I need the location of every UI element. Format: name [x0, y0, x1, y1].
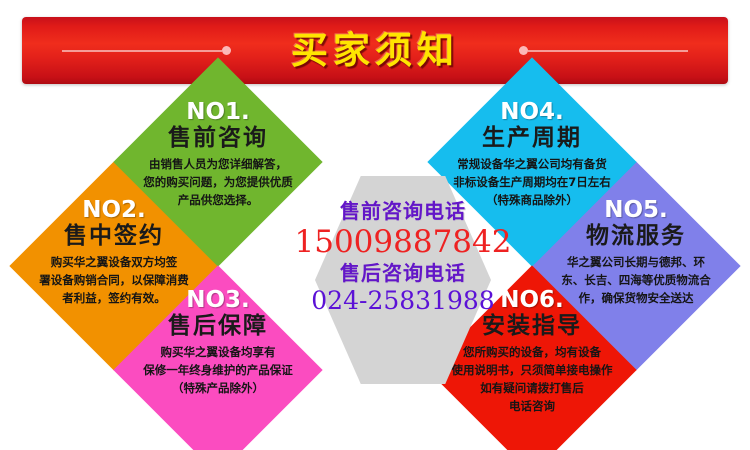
buyer-notice-infographic: 买家须知 售前咨询电话 15009887842 售后咨询电话 024-25831… — [0, 0, 750, 450]
page-title: 买家须知 — [22, 17, 728, 84]
presale-phone-label: 售前咨询电话 — [282, 198, 524, 224]
aftersale-phone-label: 售后咨询电话 — [282, 260, 524, 286]
aftersale-phone-number[interactable]: 024-25831988 — [282, 286, 524, 316]
presale-phone-number[interactable]: 15009887842 — [282, 224, 524, 260]
center-contact-text: 售前咨询电话 15009887842 售后咨询电话 024-25831988 — [282, 198, 524, 316]
header-banner: 买家须知 — [22, 17, 728, 84]
